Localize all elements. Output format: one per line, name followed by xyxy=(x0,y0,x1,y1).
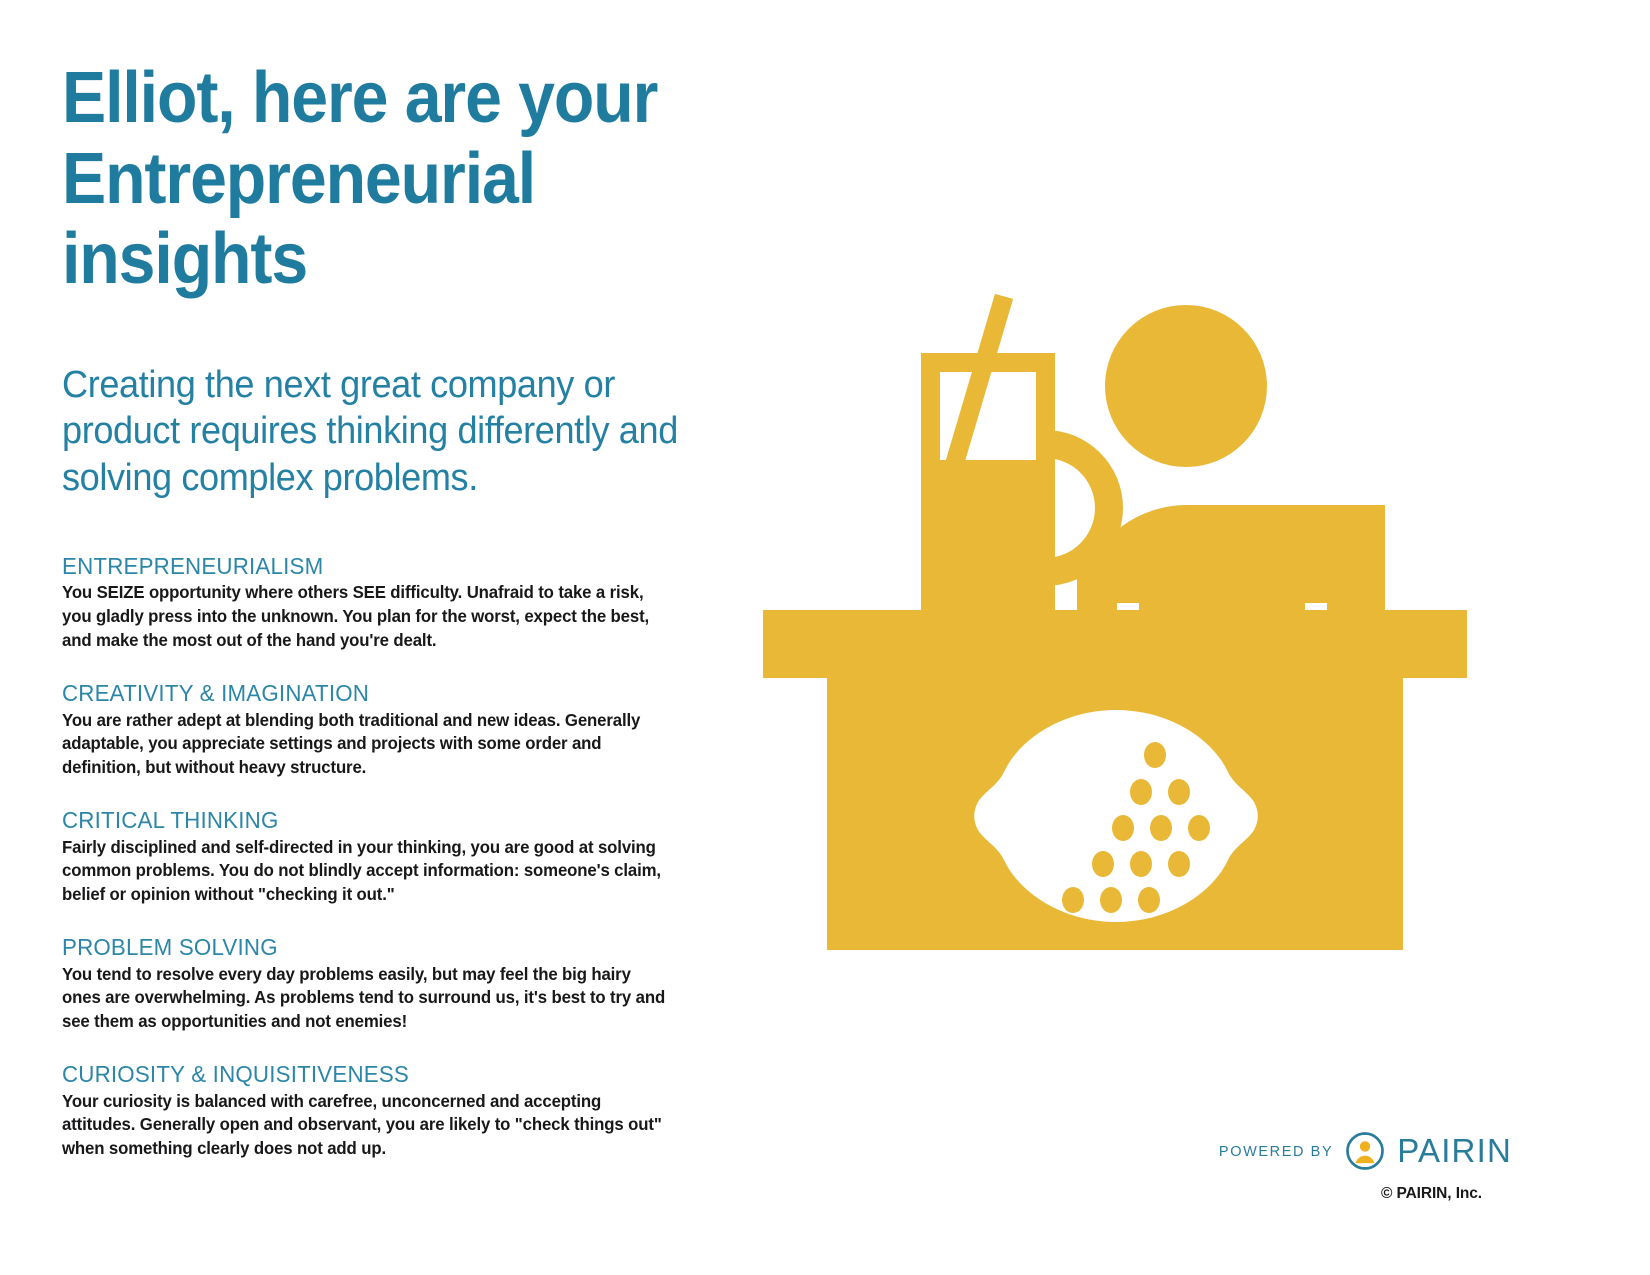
pairin-logo-icon xyxy=(1345,1131,1385,1171)
footer: POWERED BY PAIRIN © PAIRIN, Inc. xyxy=(1219,1131,1512,1203)
insight-section: CURIOSITY & INQUISITIVENESS Your curiosi… xyxy=(62,1061,702,1160)
section-description: Fairly disciplined and self-directed in … xyxy=(62,836,673,907)
section-heading: ENTREPRENEURIALISM xyxy=(62,553,683,579)
content-column: Elliot, here are your Entrepreneurial in… xyxy=(62,58,762,1161)
page-subtitle: Creating the next great company or produ… xyxy=(62,362,727,501)
powered-by-row: POWERED BY PAIRIN xyxy=(1219,1131,1512,1171)
section-heading: CURIOSITY & INQUISITIVENESS xyxy=(62,1061,683,1087)
insight-section: ENTREPRENEURIALISM You SEIZE opportunity… xyxy=(62,553,702,652)
lemonade-stand-illustration xyxy=(745,265,1485,975)
section-heading: CRITICAL THINKING xyxy=(62,807,683,833)
insight-section: PROBLEM SOLVING You tend to resolve ever… xyxy=(62,934,702,1033)
section-description: You are rather adept at blending both tr… xyxy=(62,709,673,780)
report-page: Elliot, here are your Entrepreneurial in… xyxy=(0,0,1650,1275)
section-heading: PROBLEM SOLVING xyxy=(62,934,683,960)
section-description: You SEIZE opportunity where others SEE d… xyxy=(62,581,673,652)
section-description: You tend to resolve every day problems e… xyxy=(62,963,673,1034)
page-title: Elliot, here are your Entrepreneurial in… xyxy=(62,58,706,300)
pairin-wordmark: PAIRIN xyxy=(1397,1134,1512,1169)
insight-sections: ENTREPRENEURIALISM You SEIZE opportunity… xyxy=(62,553,702,1161)
powered-by-label: POWERED BY xyxy=(1219,1142,1333,1160)
insight-section: CRITICAL THINKING Fairly disciplined and… xyxy=(62,807,702,906)
copyright-text: © PAIRIN, Inc. xyxy=(1219,1185,1512,1203)
section-description: Your curiosity is balanced with carefree… xyxy=(62,1090,673,1161)
stand-table-icon xyxy=(763,610,1467,950)
insight-section: CREATIVITY & IMAGINATION You are rather … xyxy=(62,680,702,779)
section-heading: CREATIVITY & IMAGINATION xyxy=(62,680,683,706)
person-icon xyxy=(1077,305,1385,649)
